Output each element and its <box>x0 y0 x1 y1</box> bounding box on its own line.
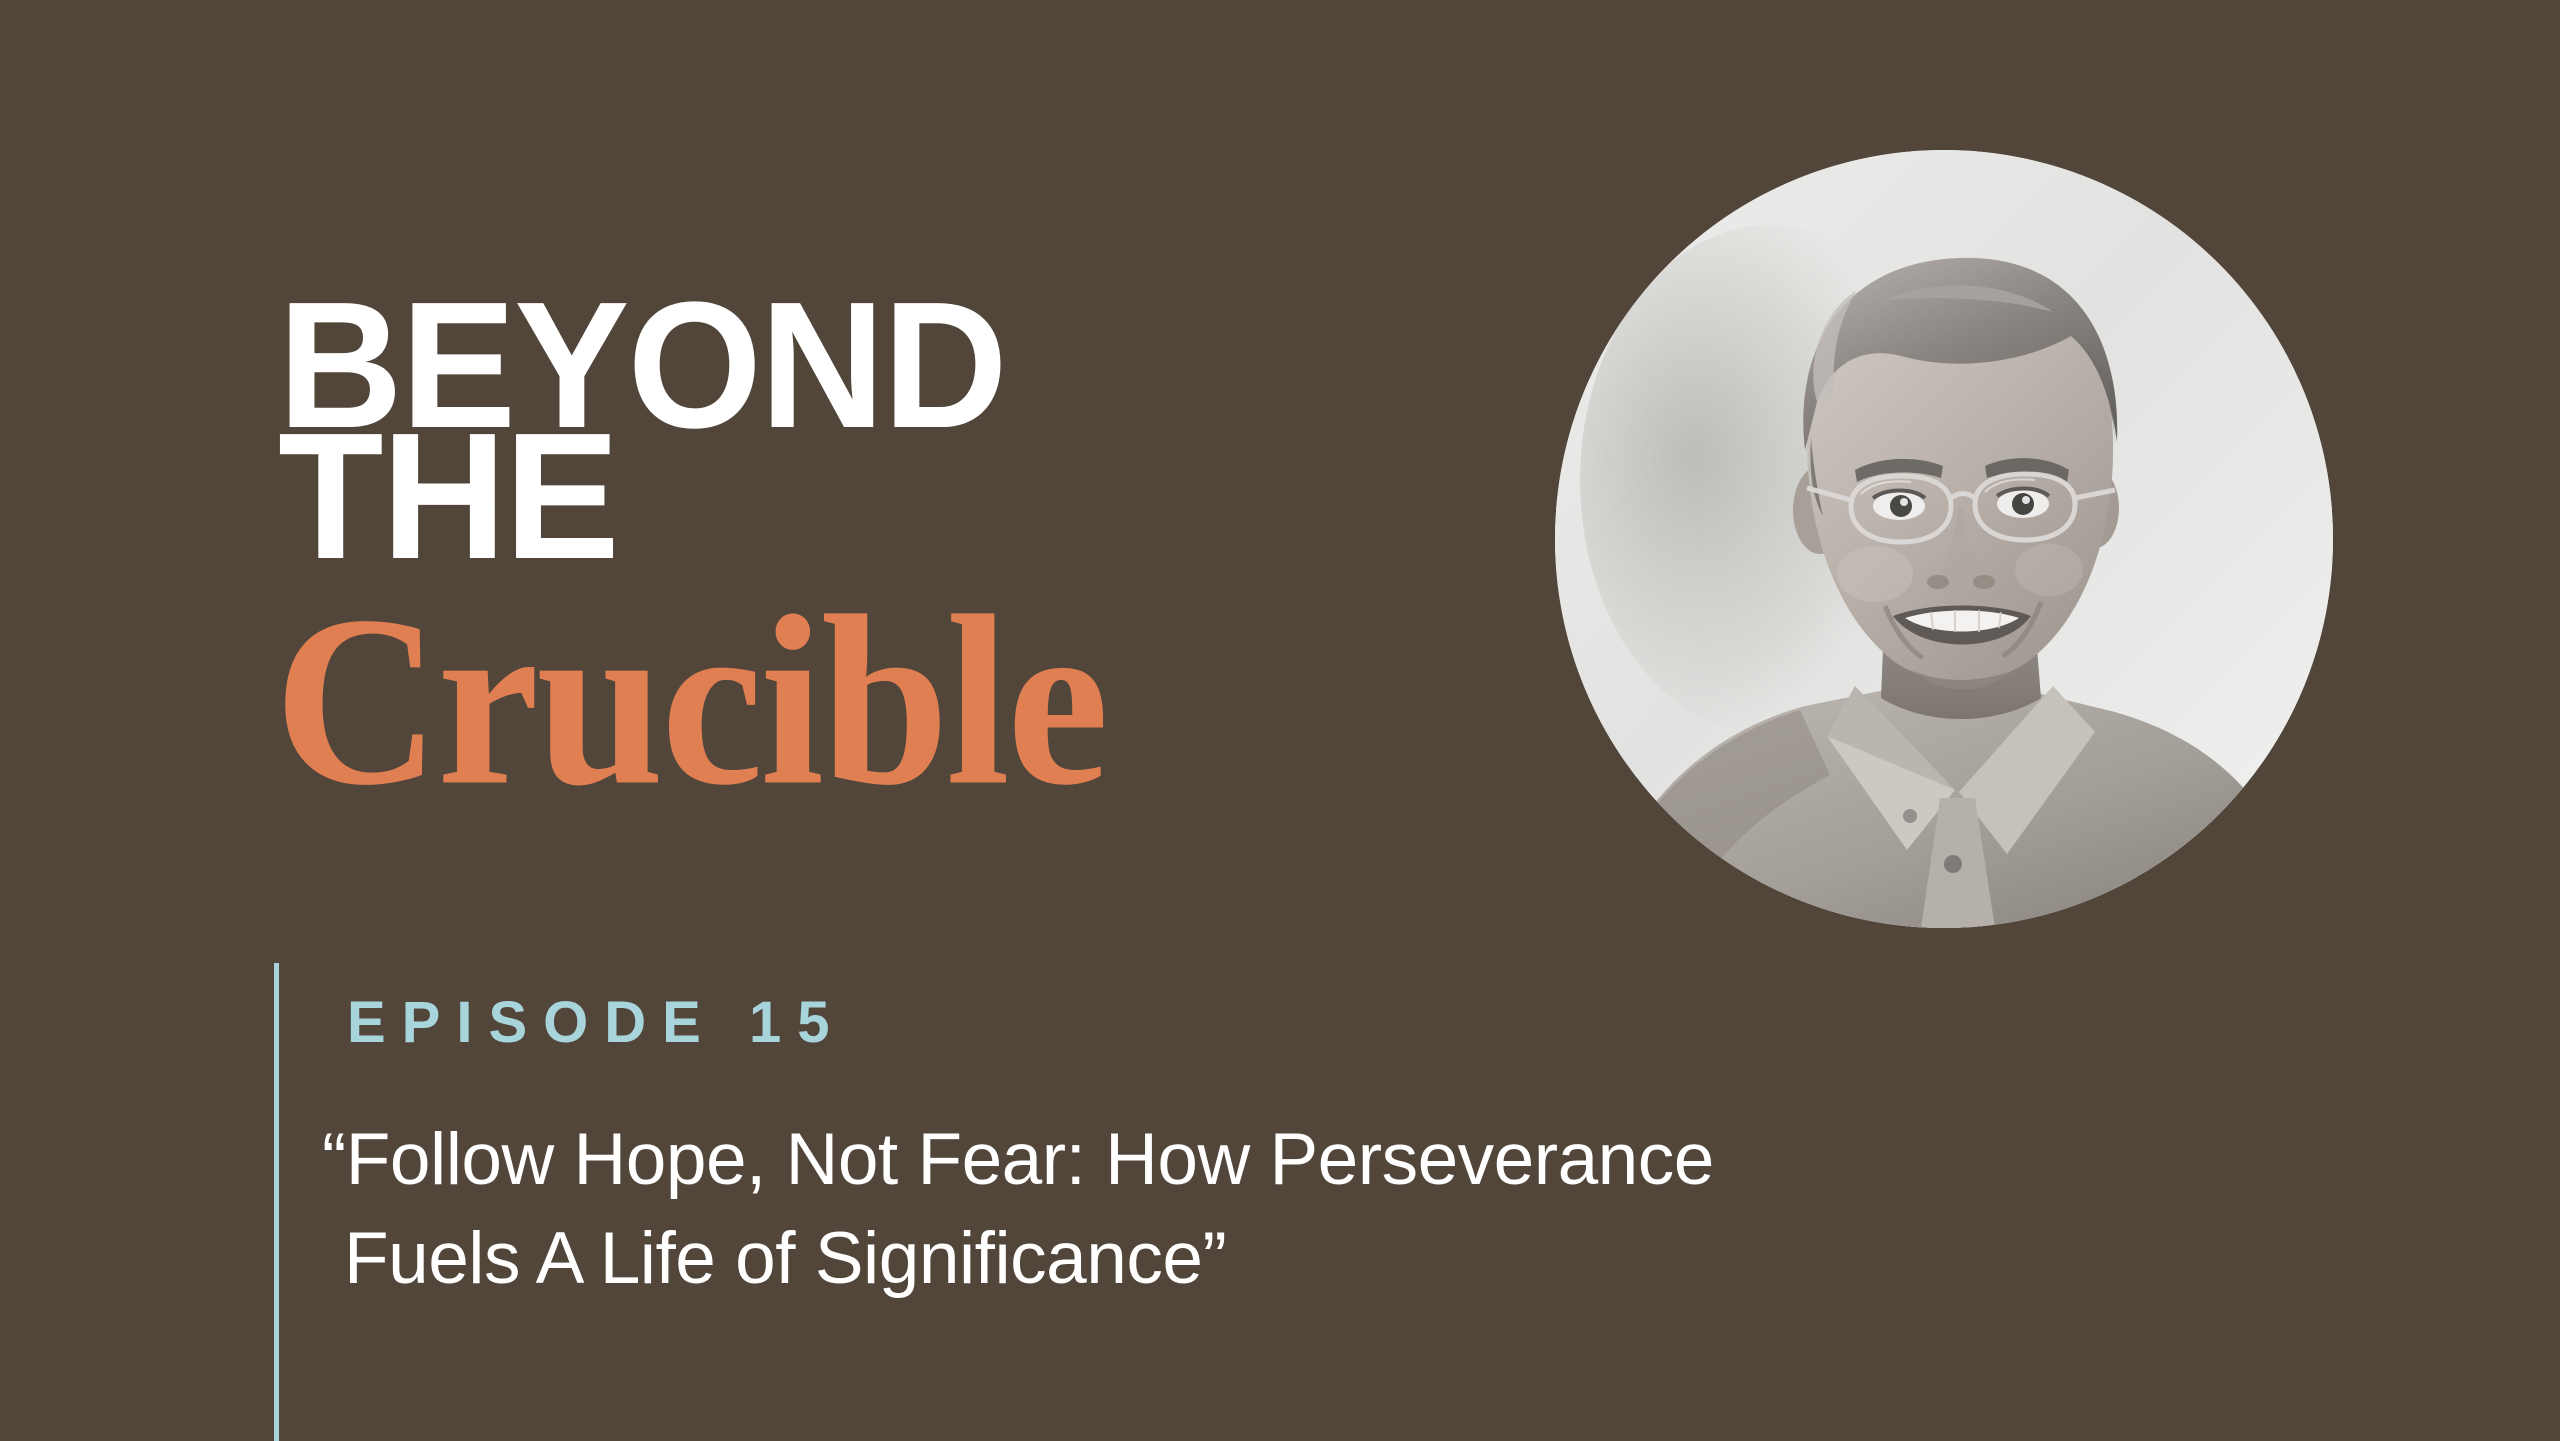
episode-title: “Follow Hope, Not Fear: How Perseverance… <box>322 1110 2222 1309</box>
episode-accent-rule <box>274 963 279 1441</box>
episode-cover-canvas: BEYOND THE Crucible <box>0 0 2560 1441</box>
episode-title-line-2: Fuels A Life of Significance” <box>322 1209 2222 1308</box>
brand-wordmark: BEYOND THE Crucible <box>278 300 1106 809</box>
guest-portrait-avatar <box>1555 150 2333 928</box>
brand-line-crucible: Crucible <box>274 579 1106 823</box>
episode-title-line-1: “Follow Hope, Not Fear: How Perseverance <box>322 1110 2222 1209</box>
brand-line-the: THE <box>278 431 1073 562</box>
episode-label: EPISODE 15 <box>347 994 845 1052</box>
